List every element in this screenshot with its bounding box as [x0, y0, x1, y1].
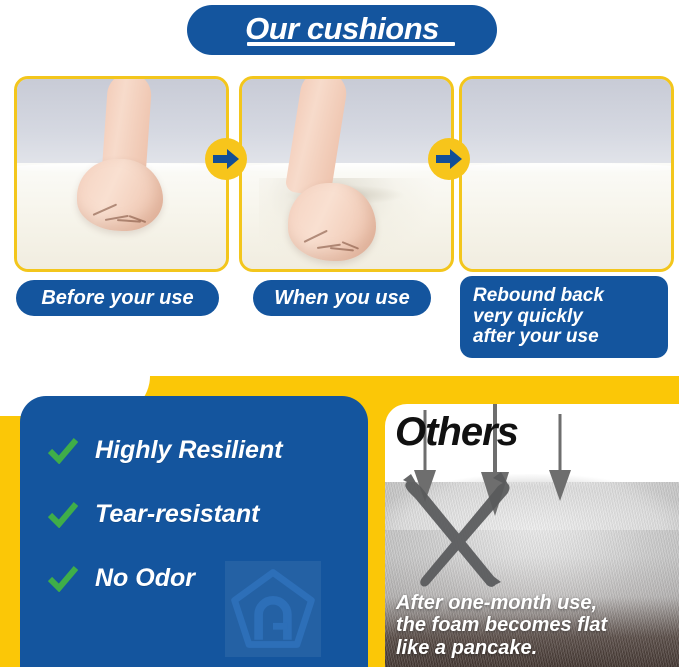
step-photo-before — [14, 76, 229, 272]
feature-item-no-odor: No Odor — [48, 564, 195, 593]
step-arrow-badge-2 — [428, 138, 470, 180]
feature-label: No Odor — [95, 564, 195, 593]
brand-watermark — [225, 561, 321, 657]
feature-label: Highly Resilient — [95, 436, 283, 465]
caption-after: Rebound back very quickly after your use — [460, 276, 668, 358]
step-arrow-badge-1 — [205, 138, 247, 180]
page-title: Our cushions — [245, 13, 439, 44]
feature-label: Tear-resistant — [95, 500, 259, 529]
others-caption-line-3: like a pancake. — [396, 637, 673, 659]
foam-front-edge — [459, 163, 674, 173]
step-photo-after — [459, 76, 674, 272]
step-photo-during — [239, 76, 454, 272]
check-mark-icon — [48, 502, 78, 528]
photo-foam-surface — [462, 163, 671, 269]
feature-item-tear-resistant: Tear-resistant — [48, 500, 259, 529]
caption-during: When you use — [253, 280, 431, 316]
others-caption-line-1: After one-month use, — [396, 592, 673, 614]
brush-x-mark-icon — [389, 466, 539, 596]
others-caption-line-2: the foam becomes flat — [396, 614, 673, 636]
title-underline — [247, 42, 455, 46]
caption-after-line-1: Rebound back — [473, 286, 604, 307]
others-comparison-panel: Others After one-month use, the f — [385, 404, 679, 667]
features-panel: Highly Resilient Tear-resistant No Odor — [20, 396, 368, 667]
pentagon-arch-logo-icon — [225, 561, 321, 657]
check-mark-icon — [48, 566, 78, 592]
others-caption: After one-month use, the foam becomes fl… — [396, 592, 673, 659]
right-arrow-icon — [213, 149, 239, 169]
photo-background-wall — [462, 79, 671, 166]
photo-background-wall — [242, 79, 451, 166]
check-mark-icon — [48, 438, 78, 464]
foam-front-edge — [239, 163, 454, 173]
caption-after-line-3: after your use — [473, 327, 599, 348]
others-title: Others — [395, 412, 518, 452]
page-title-pill: Our cushions — [187, 5, 497, 55]
caption-after-line-2: very quickly — [473, 307, 583, 328]
infographic-root: Our cushions — [0, 0, 679, 667]
right-arrow-icon — [436, 149, 462, 169]
feature-item-highly-resilient: Highly Resilient — [48, 436, 283, 465]
caption-before: Before your use — [16, 280, 219, 316]
